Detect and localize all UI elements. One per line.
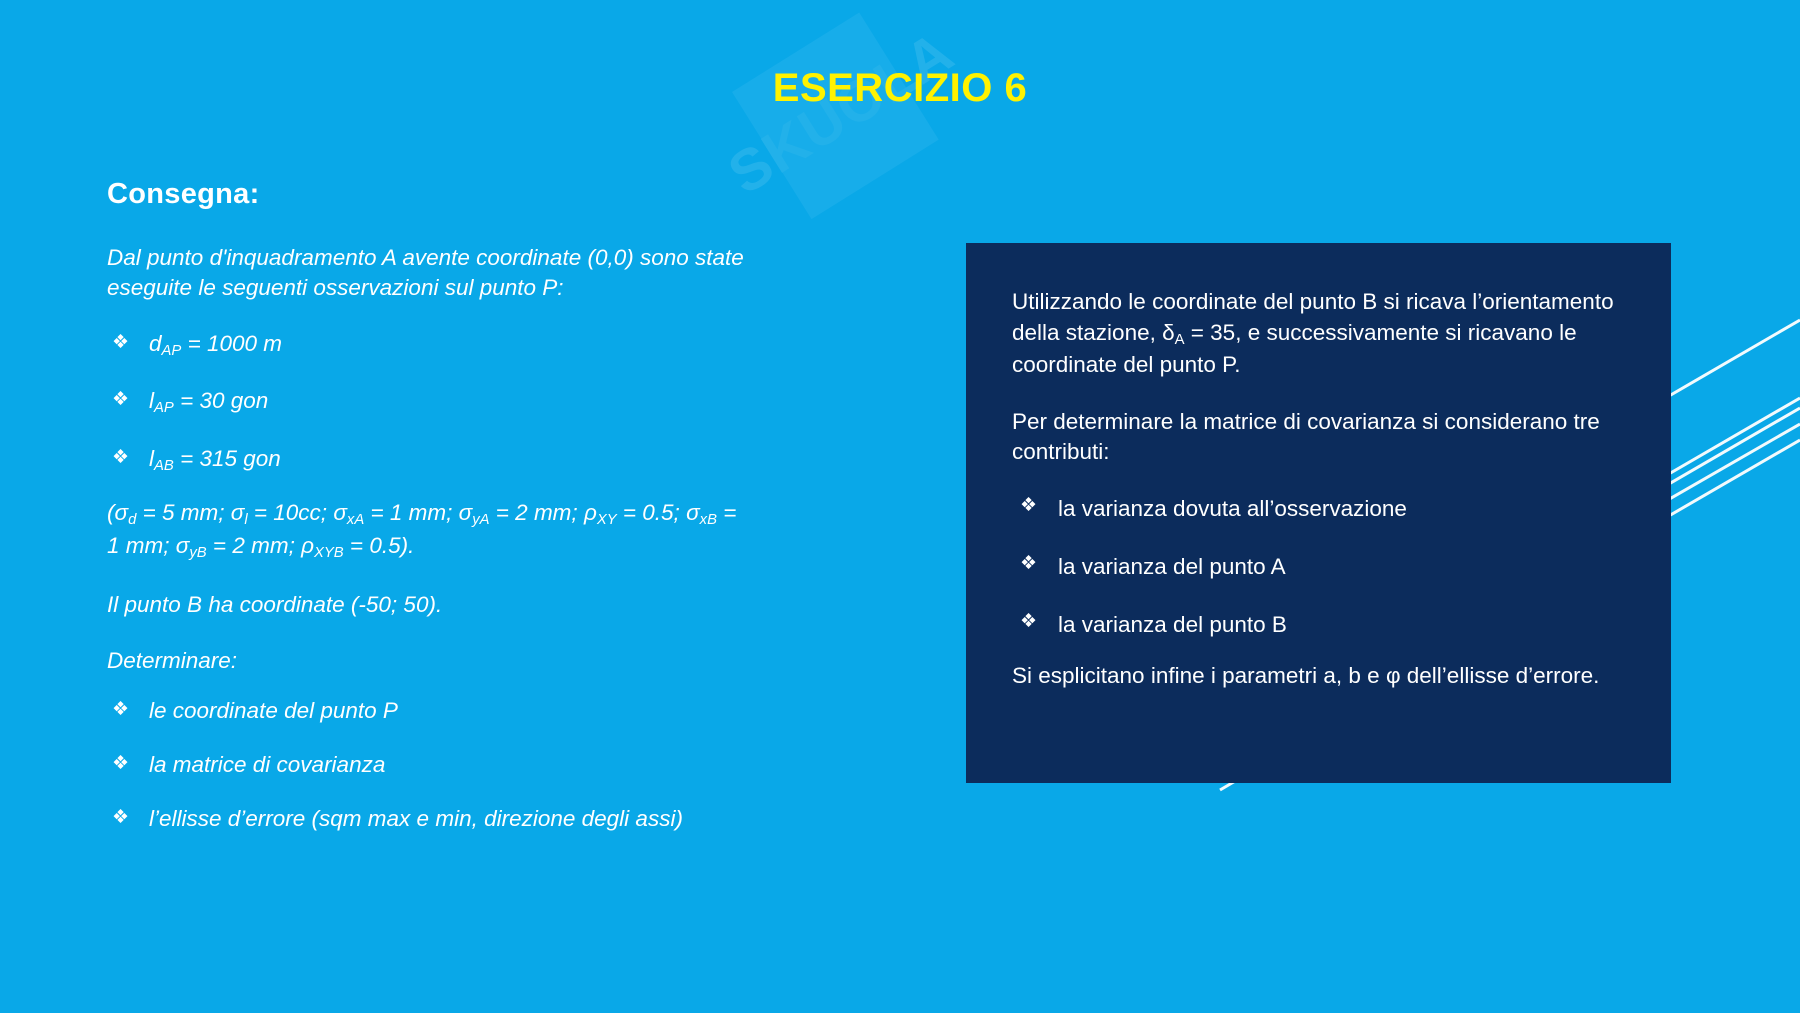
observation-subscript: AP	[162, 343, 182, 359]
param-symbol: ρ	[584, 500, 597, 525]
contribution-text: la varianza del punto A	[1058, 554, 1286, 579]
param-symbol: ρ	[301, 533, 314, 558]
determine-item-text: la matrice di covarianza	[149, 752, 385, 777]
determinare-label: Determinare:	[107, 646, 747, 676]
param-value: = 0.5).	[344, 533, 415, 558]
list-item: ❖ la matrice di covarianza	[107, 750, 747, 779]
slide-canvas: SKUOLA ESERCIZIO 6 Consegna: Dal punto d…	[0, 0, 1800, 1013]
contribution-text: la varianza dovuta all’osservazione	[1058, 496, 1407, 521]
param-symbol: σ	[333, 500, 347, 525]
observations-list: ❖ dAP = 1000 m ❖ lAP = 30 gon ❖ lAB = 31…	[107, 329, 747, 476]
list-item: ❖ lAP = 30 gon	[107, 386, 747, 418]
page-title: ESERCIZIO 6	[0, 66, 1800, 111]
param-subscript: yB	[189, 545, 206, 561]
observation-value: = 315 gon	[174, 446, 281, 471]
list-item: ❖ le coordinate del punto P	[107, 696, 747, 725]
diamond-bullet-icon: ❖	[112, 445, 129, 472]
open-paren: (	[107, 500, 115, 525]
param-value: = 2 mm;	[490, 500, 584, 525]
diamond-bullet-icon: ❖	[112, 330, 129, 357]
observation-value: = 30 gon	[174, 388, 268, 413]
param-value: = 10cc;	[248, 500, 334, 525]
diamond-bullet-icon: ❖	[1020, 610, 1037, 635]
param-symbol: σ	[459, 500, 473, 525]
determine-item-text: l’ellisse d’errore (sqm max e min, direz…	[149, 806, 683, 831]
determine-list: ❖ le coordinate del punto P ❖ la matrice…	[107, 696, 747, 834]
orientation-paragraph: Utilizzando le coordinate del punto B si…	[1012, 287, 1619, 381]
param-subscript: XY	[597, 512, 617, 528]
watermark-shape	[732, 12, 939, 219]
point-b-coordinates: Il punto B ha coordinate (-50; 50).	[107, 590, 747, 620]
section-heading-consegna: Consegna:	[107, 178, 747, 211]
diamond-bullet-icon: ❖	[1020, 494, 1037, 519]
param-value: = 5 mm;	[136, 500, 230, 525]
contribution-text: la varianza del punto B	[1058, 612, 1287, 637]
parameters-paragraph: (σd = 5 mm; σl = 10cc; σxA = 1 mm; σyA =…	[107, 498, 747, 564]
observation-subscript: AP	[154, 400, 174, 416]
diamond-bullet-icon: ❖	[1020, 552, 1037, 577]
ellipse-parameters-paragraph: Si esplicitano infine i parametri a, b e…	[1012, 661, 1619, 692]
param-subscript: xA	[347, 512, 364, 528]
param-value: = 2 mm;	[207, 533, 301, 558]
param-symbol: σ	[176, 533, 190, 558]
covariance-paragraph: Per determinare la matrice di covarianza…	[1012, 407, 1619, 468]
list-item: ❖ la varianza del punto B	[1012, 610, 1619, 639]
param-symbol: σ	[115, 500, 129, 525]
list-item: ❖ l’ellisse d’errore (sqm max e min, dir…	[107, 804, 747, 833]
delta-subscript: A	[1175, 332, 1185, 348]
watermark-text: SKUOLA	[717, 18, 965, 208]
diamond-bullet-icon: ❖	[112, 805, 129, 832]
list-item: ❖ la varianza del punto A	[1012, 552, 1619, 581]
param-subscript: xB	[700, 512, 717, 528]
list-item: ❖ la varianza dovuta all’osservazione	[1012, 494, 1619, 523]
diamond-bullet-icon: ❖	[112, 697, 129, 724]
observation-value: = 1000 m	[181, 331, 282, 356]
list-item: ❖ lAB = 315 gon	[107, 444, 747, 476]
contributions-list: ❖ la varianza dovuta all’osservazione ❖ …	[1012, 494, 1619, 640]
param-symbol: σ	[231, 500, 245, 525]
list-item: ❖ dAP = 1000 m	[107, 329, 747, 361]
observation-symbol: d	[149, 331, 162, 356]
observation-subscript: AB	[154, 458, 174, 474]
left-content-column: Consegna: Dal punto d'inquadramento A av…	[107, 178, 747, 856]
param-subscript: yA	[472, 512, 489, 528]
intro-paragraph: Dal punto d'inquadramento A avente coord…	[107, 243, 747, 303]
param-value: = 0.5;	[617, 500, 686, 525]
determine-item-text: le coordinate del punto P	[149, 698, 398, 723]
param-subscript: XYB	[314, 545, 344, 561]
solution-approach-box: Utilizzando le coordinate del punto B si…	[966, 243, 1671, 783]
param-symbol: σ	[686, 500, 700, 525]
diamond-bullet-icon: ❖	[112, 751, 129, 778]
param-value: = 1 mm;	[364, 500, 458, 525]
diamond-bullet-icon: ❖	[112, 387, 129, 414]
